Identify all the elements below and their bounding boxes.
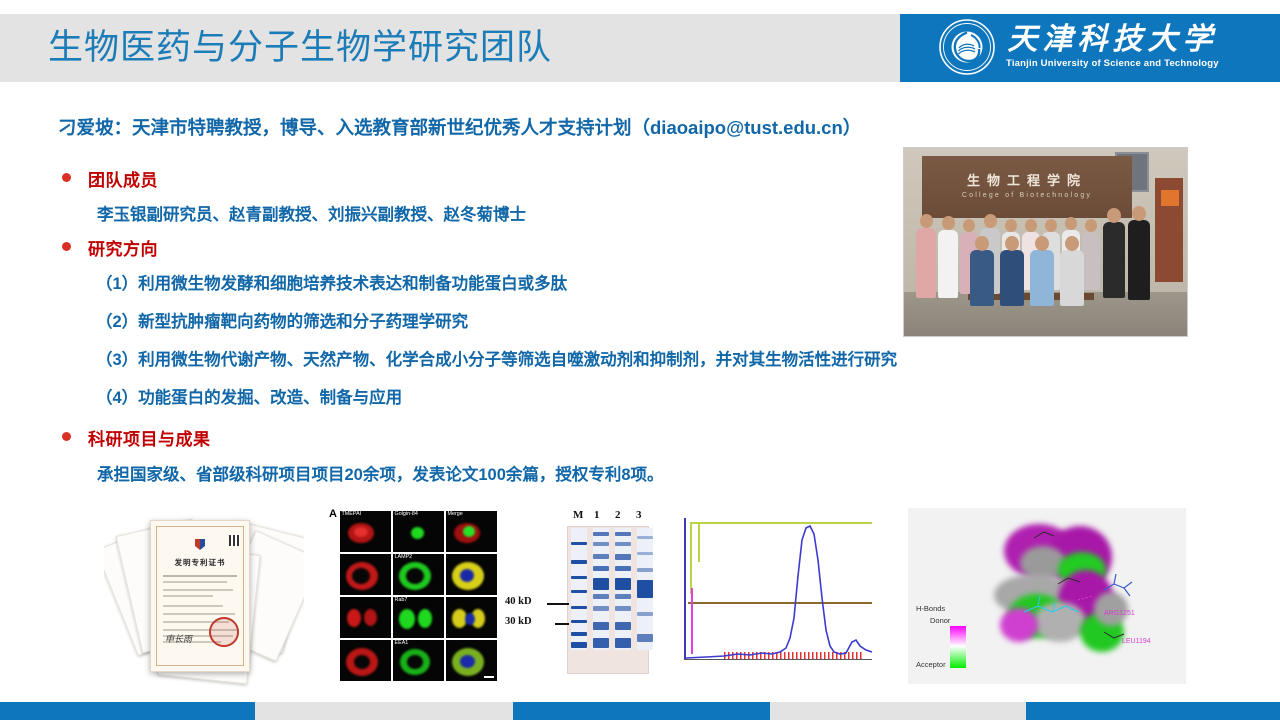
certificate-signature: 申长雨	[165, 632, 192, 645]
research-direction-4: （4）功能蛋白的发掘、改造、制备与应用	[96, 384, 402, 408]
if-row-label: EEA1	[395, 640, 409, 646]
logo-name-en: Tianjin University of Science and Techno…	[1006, 57, 1219, 71]
section-heading-research-directions: 研究方向	[62, 235, 158, 260]
gel-lane-label-M: M	[573, 509, 583, 521]
if-row-label: LAMP2	[395, 554, 413, 560]
if-cell-green: Rab7	[393, 597, 444, 638]
photo-person	[1000, 250, 1024, 306]
photo-person	[1103, 222, 1125, 298]
panel-label-A: A	[329, 508, 337, 520]
photo-person	[1082, 232, 1100, 290]
gel-marker-tick	[555, 623, 569, 625]
if-column-label: Merge	[448, 511, 463, 517]
if-cell-merge	[446, 597, 497, 638]
gel-lane-label-3: 3	[636, 509, 642, 521]
photo-person	[1060, 250, 1084, 306]
research-direction-3: （3）利用微生物代谢产物、天然产物、化学合成小分子等筛选自噬激动剂和抑制剂，并对…	[96, 346, 897, 370]
immunofluorescence-grid: TMEPAI Golgin-84 Merge LAMP2	[340, 511, 497, 681]
gel-lane-1	[593, 528, 609, 650]
molecular-docking-model: ARG1251 LEU1194 H-Bonds Donor Acceptor	[908, 508, 1186, 684]
section-heading-team-members: 团队成员	[62, 166, 158, 191]
certificate-text-line	[163, 581, 227, 583]
certificate-text-line	[163, 605, 223, 607]
section-heading-label: 科研项目与成果	[88, 425, 211, 450]
professor-subtitle: 刁爱坡：天津市特聘教授，博导、入选教育部新世纪优秀人才支持计划（diaoaipo…	[58, 114, 861, 140]
wall-sign-text-en: College of Biotechnology	[922, 192, 1132, 199]
patent-office-emblem-icon	[191, 537, 209, 553]
bottom-color-bar	[0, 702, 1280, 720]
if-cell-merge	[446, 554, 497, 595]
certificate-qr-code	[229, 535, 240, 546]
photo-person	[938, 230, 958, 298]
bullet-dot-icon	[62, 173, 71, 182]
photo-person-head	[1005, 236, 1019, 251]
bullet-dot-icon	[62, 242, 71, 251]
research-direction-2: （2）新型抗肿瘤靶向药物的筛选和分子药理学研究	[96, 308, 468, 332]
achievements-summary: 承担国家级、省部级科研项目项目20余项，发表论文100余篇，授权专利8项。	[97, 461, 664, 485]
section-heading-projects-achievements: 科研项目与成果	[62, 425, 211, 450]
sds-page-gel: M 1 2 3	[505, 506, 675, 684]
bottom-bar-segment	[513, 702, 770, 720]
photo-person-head	[963, 219, 975, 232]
docking-legend-gradient-bar	[950, 626, 966, 668]
research-direction-1: （1）利用微生物发酵和细胞培养技术表达和制备功能蛋白或多肽	[96, 270, 567, 294]
docking-legend-title: H-Bonds	[916, 604, 945, 613]
certificate-text-line	[163, 613, 235, 615]
patent-certificate-main: 发明专利证书 申长雨	[150, 520, 250, 672]
gel-lane-marker	[571, 528, 587, 650]
tust-university-seal-icon	[938, 18, 996, 76]
photo-person-head	[984, 214, 997, 228]
if-cell-merge: Merge	[446, 511, 497, 552]
logo-name-cn: 天津科技大学	[1007, 23, 1217, 57]
immunofluorescence-panel: A TMEPAI Golgin-84 Merge LAMP2	[327, 506, 499, 684]
if-cell-red: TMEPAI	[340, 511, 391, 552]
photo-person-head	[1065, 236, 1079, 251]
photo-person	[1030, 250, 1054, 306]
gel-marker-label-30kd: 30 kD	[505, 616, 532, 627]
photo-person-head	[1005, 219, 1017, 232]
gel-marker-label-40kd: 40 kD	[505, 596, 532, 607]
certificate-text-line	[163, 575, 237, 577]
if-column-label: Golgin-84	[395, 511, 418, 517]
if-column-label: TMEPAI	[342, 511, 362, 517]
bottom-bar-segment	[770, 702, 1026, 720]
gel-marker-tick	[547, 603, 569, 605]
if-cell-merge	[446, 640, 497, 681]
gel-lane-3	[637, 528, 653, 650]
if-cell-red	[340, 554, 391, 595]
if-cell-green: Golgin-84	[393, 511, 444, 552]
wall-sign-text-cn: 生物工程学院	[922, 170, 1132, 189]
photo-person-head	[1132, 206, 1146, 221]
certificate-text-line	[163, 589, 233, 591]
photo-person	[970, 250, 994, 306]
university-logo-banner: 天津科技大学 Tianjin University of Science and…	[900, 14, 1280, 82]
photo-person-head	[1045, 219, 1057, 232]
if-cell-green: LAMP2	[393, 554, 444, 595]
docking-legend-donor-label: Donor	[930, 616, 950, 625]
bottom-bar-segment	[1026, 702, 1280, 720]
if-cell-red	[340, 597, 391, 638]
photo-person-head	[920, 214, 933, 228]
if-cell-green: EEA1	[393, 640, 444, 681]
scale-bar	[484, 676, 494, 678]
docking-residue-label-2: LEU1194	[1122, 638, 1151, 645]
gel-lane-label-1: 1	[594, 509, 600, 521]
if-cell-red	[340, 640, 391, 681]
bottom-bar-segment	[255, 702, 513, 720]
gel-lane-label-2: 2	[615, 509, 621, 521]
certificate-text-line	[163, 595, 213, 597]
photo-person	[1128, 220, 1150, 300]
photo-person-head	[1107, 208, 1121, 223]
photo-person-head	[1025, 219, 1037, 232]
bottom-bar-segment	[0, 702, 255, 720]
if-row-label: Rab7	[395, 597, 408, 603]
team-members-list: 李玉银副研究员、赵青副教授、刘振兴副教授、赵冬菊博士	[97, 201, 526, 225]
chromatogram-trace	[676, 514, 876, 672]
hplc-chromatogram	[676, 514, 876, 672]
photo-person	[916, 228, 936, 298]
photo-person-head	[1065, 217, 1077, 230]
bullet-dot-icon	[62, 432, 71, 441]
page-title: 生物医药与分子生物学研究团队	[48, 22, 552, 74]
gel-lane-2	[615, 528, 631, 650]
photo-person-head	[1035, 236, 1049, 251]
photo-person-head	[1085, 219, 1097, 232]
photo-person-head	[942, 216, 955, 230]
patent-certificates-photo: 发明专利证书 申长雨	[104, 506, 304, 688]
photo-wall-sign: 生物工程学院 College of Biotechnology	[922, 156, 1132, 218]
team-group-photo: 生物工程学院 College of Biotechnology	[903, 147, 1188, 337]
photo-person-head	[975, 236, 989, 251]
certificate-red-seal	[209, 617, 239, 647]
certificate-title: 发明专利证书	[151, 557, 249, 568]
docking-legend-acceptor-label: Acceptor	[916, 660, 946, 669]
docking-residue-label-1: ARG1251	[1104, 610, 1135, 617]
section-heading-label: 研究方向	[88, 235, 158, 260]
section-heading-label: 团队成员	[88, 166, 158, 191]
photo-door-sign	[1161, 190, 1179, 206]
